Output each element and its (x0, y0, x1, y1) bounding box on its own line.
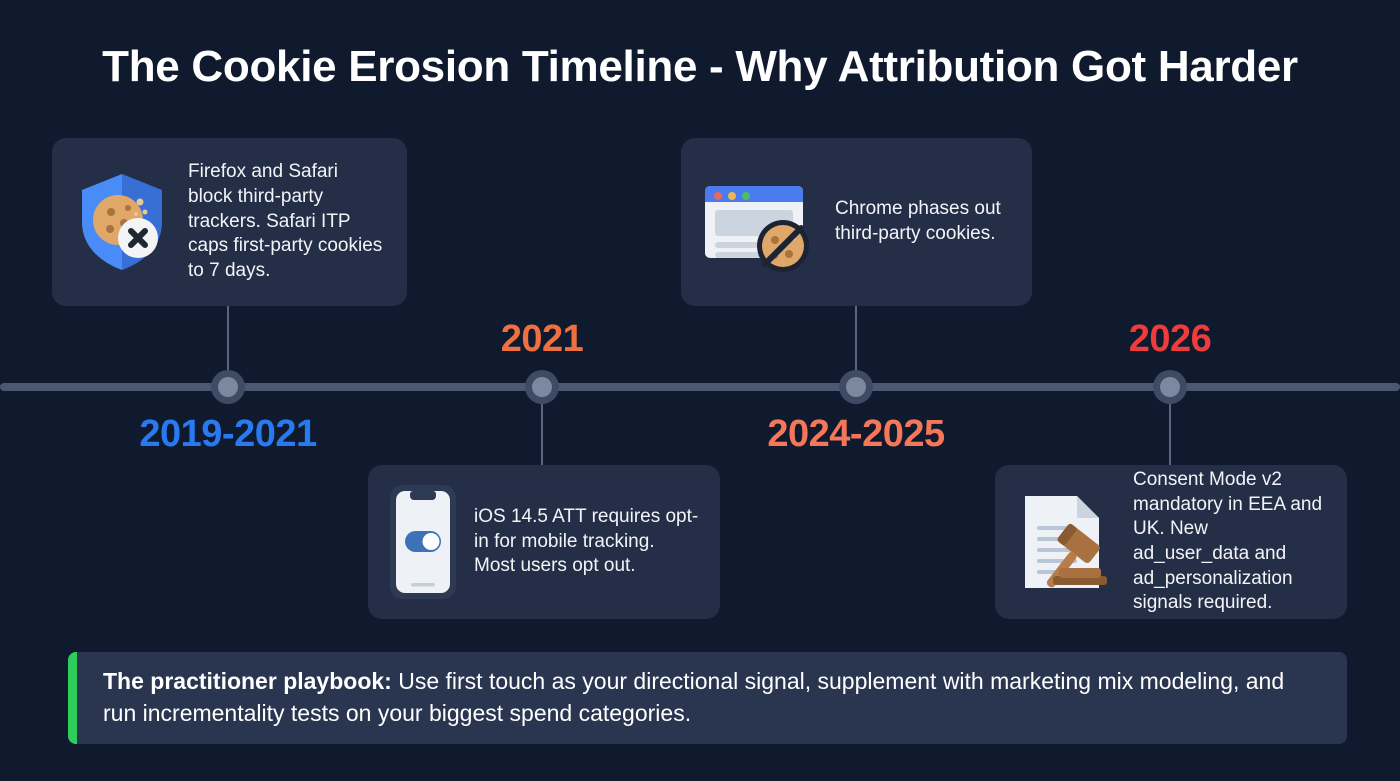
timeline-node-3[interactable] (839, 370, 873, 404)
callout-accent-bar (68, 652, 77, 744)
callout-lead: The practitioner playbook: (103, 668, 392, 694)
milestone-card-2024-2025[interactable]: Chrome phases out third-party cookies. (681, 138, 1032, 306)
phone-toggle-icon (388, 483, 458, 601)
practitioner-playbook-callout: The practitioner playbook: Use first tou… (68, 652, 1347, 744)
timeline-node-core (218, 377, 238, 397)
page-title: The Cookie Erosion Timeline - Why Attrib… (0, 42, 1400, 92)
milestone-card-text: iOS 14.5 ATT requires opt-in for mobile … (474, 505, 700, 579)
timeline-node-2[interactable] (525, 370, 559, 404)
timeline-node-core (846, 377, 866, 397)
timeline-node-core (532, 377, 552, 397)
timeline-node-1[interactable] (211, 370, 245, 404)
browser-cookie-blocked-icon (701, 172, 819, 272)
document-gavel-icon (1015, 490, 1117, 594)
year-label-2026: 2026 (1129, 318, 1212, 361)
timeline-axis (0, 383, 1400, 391)
timeline-node-core (1160, 377, 1180, 397)
milestone-card-text: Chrome phases out third-party cookies. (835, 197, 1012, 246)
year-label-2021: 2021 (501, 318, 584, 361)
milestone-card-2019-2021[interactable]: Firefox and Safari block third-party tra… (52, 138, 407, 306)
milestone-card-2026[interactable]: Consent Mode v2 mandatory in EEA and UK.… (995, 465, 1347, 619)
callout-text: The practitioner playbook: Use first tou… (77, 666, 1347, 729)
year-label-2024-2025: 2024-2025 (767, 413, 944, 456)
year-label-2019-2021: 2019-2021 (139, 413, 316, 456)
milestone-card-text: Consent Mode v2 mandatory in EEA and UK.… (1133, 468, 1327, 616)
milestone-card-2021[interactable]: iOS 14.5 ATT requires opt-in for mobile … (368, 465, 720, 619)
timeline-node-4[interactable] (1153, 370, 1187, 404)
milestone-card-text: Firefox and Safari block third-party tra… (188, 160, 387, 283)
shield-cookie-blocked-icon (72, 170, 172, 274)
